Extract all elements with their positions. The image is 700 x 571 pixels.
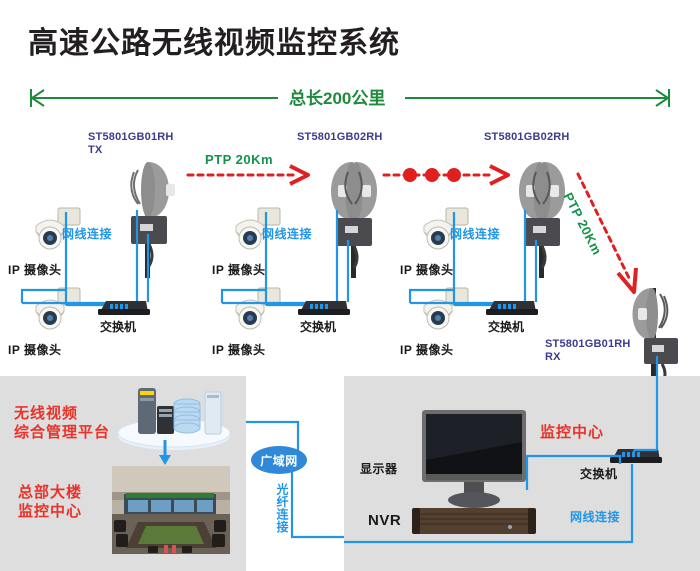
switch-label: 交换机 <box>300 318 336 335</box>
control-center-wiring <box>344 330 700 571</box>
building-label-line2: 监控中心 <box>18 502 82 521</box>
wan-label: 广域网 <box>260 452 298 469</box>
control-room-photo <box>112 466 230 554</box>
platform-label-line2: 综合管理平台 <box>14 423 110 442</box>
wan-node[interactable]: 广域网 <box>251 446 307 474</box>
site-tx-model: ST5801GB01RH <box>88 131 174 144</box>
platform-downlink-arrow <box>155 440 175 466</box>
network-switch[interactable] <box>296 296 352 316</box>
total-length-label: 总长200公里 <box>289 84 385 109</box>
diagram-canvas: 高速公路无线视频监控系统 总长200公里 ST5801GB01RH TX <box>0 0 700 571</box>
network-switch[interactable] <box>96 296 152 316</box>
switch-label: 交换机 <box>100 318 136 335</box>
lan-label: 网线连接 <box>62 225 112 242</box>
lan-label: 网线连接 <box>450 225 500 242</box>
platform-label-line1: 无线视频 <box>14 404 78 423</box>
building-label-line1: 总部大楼 <box>18 483 82 502</box>
network-switch[interactable] <box>484 296 540 316</box>
fiber-link-label: 光纤连接 <box>274 483 291 533</box>
lan-label: 网线连接 <box>262 225 312 242</box>
page-title: 高速公路无线视频监控系统 <box>28 18 400 62</box>
wan-wiring <box>246 376 344 571</box>
site-relay-2-model: ST5801GB02RH <box>484 131 570 144</box>
site-relay-1-model: ST5801GB02RH <box>297 131 383 144</box>
